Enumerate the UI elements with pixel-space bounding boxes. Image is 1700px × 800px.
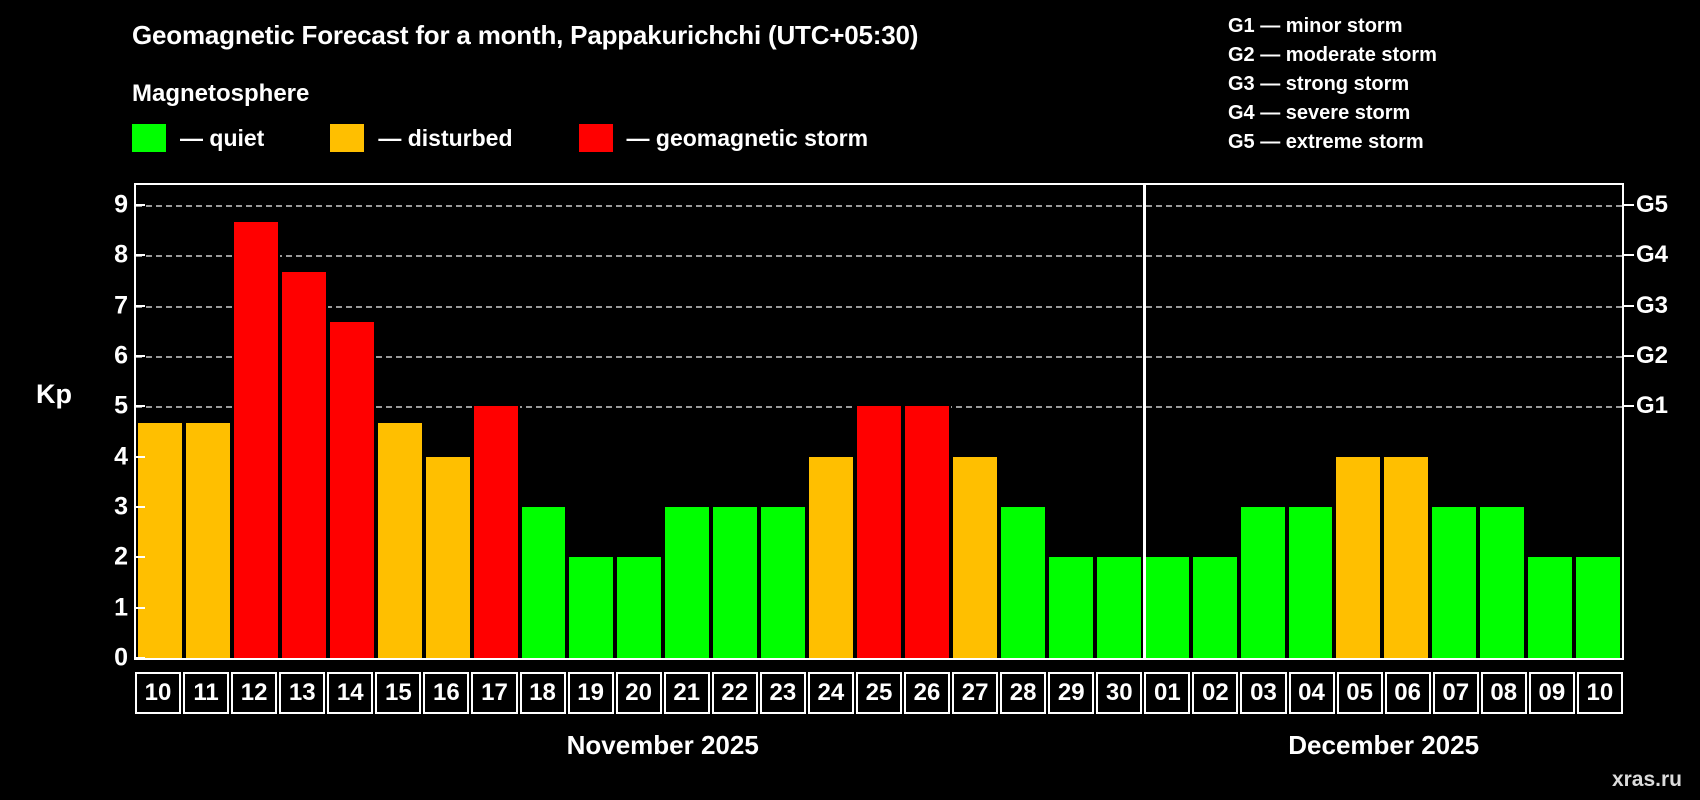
legend-item-quiet: — quiet <box>132 124 264 152</box>
bar-21-quiet <box>663 507 711 658</box>
magnetosphere-legend: — quiet— disturbed— geomagnetic storm <box>132 124 934 152</box>
bar-cell <box>1526 185 1574 658</box>
bar-05-disturbed <box>1334 457 1382 658</box>
bar-10-quiet <box>1574 557 1622 658</box>
gscale-row-5: G5 — extreme storm <box>1228 128 1437 157</box>
day-label-text: 17 <box>481 681 508 705</box>
bar-cell <box>424 185 472 658</box>
day-label-text: 14 <box>337 681 364 705</box>
day-label-text: 04 <box>1298 681 1325 705</box>
ytick-mark-4 <box>134 456 145 458</box>
bar-12-storm <box>232 222 280 658</box>
day-label-text: 08 <box>1490 681 1517 705</box>
bar-cell <box>280 185 328 658</box>
day-label-text: 09 <box>1538 681 1565 705</box>
day-label-30: 30 <box>1096 672 1142 714</box>
legend-swatch-storm <box>579 124 613 152</box>
bar-cell <box>951 185 999 658</box>
ytick-mark-0 <box>134 657 145 659</box>
day-label-15: 15 <box>375 672 421 714</box>
bar-09-quiet <box>1526 557 1574 658</box>
legend-swatch-disturbed <box>330 124 364 152</box>
gscale-row-1: G1 — minor storm <box>1228 12 1437 41</box>
bar-30-quiet <box>1095 557 1143 658</box>
page-title: Geomagnetic Forecast for a month, Pappak… <box>132 20 918 51</box>
day-label-22: 22 <box>712 672 758 714</box>
legend-item-storm: — geomagnetic storm <box>579 124 869 152</box>
x-axis-day-labels: 1011121314151617181920212223242526272829… <box>134 672 1624 714</box>
day-label-26: 26 <box>904 672 950 714</box>
chart-plot-area <box>134 183 1624 660</box>
legend-label-storm: — geomagnetic storm <box>627 125 869 152</box>
bar-02-quiet <box>1191 557 1239 658</box>
bar-13-storm <box>280 272 328 658</box>
bar-14-storm <box>328 322 376 658</box>
bar-20-quiet <box>615 557 663 658</box>
gtick-mark-G4 <box>1624 254 1634 256</box>
ytick-mark-5 <box>134 405 145 407</box>
bar-cell <box>663 185 711 658</box>
bar-25-storm <box>855 406 903 658</box>
day-label-27: 27 <box>952 672 998 714</box>
month-label-december: December 2025 <box>1288 730 1479 761</box>
bar-cell <box>711 185 759 658</box>
gscale-row-3: G3 — strong storm <box>1228 70 1437 99</box>
day-label-text: 06 <box>1394 681 1421 705</box>
bar-cell <box>1191 185 1239 658</box>
day-label-text: 05 <box>1346 681 1373 705</box>
gscale-row-2: G2 — moderate storm <box>1228 41 1437 70</box>
day-label-13: 13 <box>279 672 325 714</box>
bar-cell <box>1239 185 1287 658</box>
bar-cell <box>1047 185 1095 658</box>
bar-cell <box>1287 185 1335 658</box>
bar-cell <box>1574 185 1622 658</box>
bar-16-disturbed <box>424 457 472 658</box>
bar-cell <box>855 185 903 658</box>
day-label-11: 11 <box>183 672 229 714</box>
day-label-25: 25 <box>856 672 902 714</box>
day-label-03: 03 <box>1240 672 1286 714</box>
day-label-29: 29 <box>1048 672 1094 714</box>
ytick-label-9: 9 <box>114 191 128 220</box>
gtick-label-G2: G2 <box>1636 342 1668 370</box>
bar-cell <box>999 185 1047 658</box>
legend-title: Magnetosphere <box>132 80 309 108</box>
gtick-label-G4: G4 <box>1636 241 1668 269</box>
bar-11-disturbed <box>184 423 232 658</box>
day-label-text: 10 <box>1587 681 1614 705</box>
day-label-text: 28 <box>1010 681 1037 705</box>
ytick-label-7: 7 <box>114 291 128 320</box>
bar-cell <box>759 185 807 658</box>
day-label-08: 08 <box>1481 672 1527 714</box>
day-label-text: 02 <box>1202 681 1229 705</box>
gtick-label-G3: G3 <box>1636 292 1668 320</box>
y-axis-left: 0123456789 <box>78 183 128 660</box>
y-axis-right-gscale: G1G2G3G4G5 <box>1636 183 1696 660</box>
day-label-12: 12 <box>231 672 277 714</box>
day-label-text: 10 <box>145 681 172 705</box>
bar-15-disturbed <box>376 423 424 658</box>
day-label-14: 14 <box>327 672 373 714</box>
bar-cell <box>615 185 663 658</box>
day-label-text: 15 <box>385 681 412 705</box>
x-axis-month-labels: November 2025December 2025 <box>134 730 1624 770</box>
bar-cell <box>376 185 424 658</box>
day-label-text: 24 <box>818 681 845 705</box>
ytick-label-6: 6 <box>114 342 128 371</box>
ytick-label-2: 2 <box>114 543 128 572</box>
legend-label-disturbed: — disturbed <box>378 125 512 152</box>
day-label-text: 29 <box>1058 681 1085 705</box>
bar-17-storm <box>472 406 520 658</box>
ytick-mark-9 <box>134 204 145 206</box>
day-label-text: 21 <box>673 681 700 705</box>
ytick-label-8: 8 <box>114 241 128 270</box>
bar-cell <box>1478 185 1526 658</box>
bar-cell <box>1334 185 1382 658</box>
day-label-text: 25 <box>866 681 893 705</box>
gscale-row-4: G4 — severe storm <box>1228 99 1437 128</box>
bar-29-quiet <box>1047 557 1095 658</box>
day-label-06: 06 <box>1385 672 1431 714</box>
ytick-mark-3 <box>134 506 145 508</box>
day-label-01: 01 <box>1144 672 1190 714</box>
day-label-text: 22 <box>721 681 748 705</box>
day-label-text: 20 <box>625 681 652 705</box>
day-label-text: 18 <box>529 681 556 705</box>
day-label-07: 07 <box>1433 672 1479 714</box>
bar-cell <box>328 185 376 658</box>
ytick-label-5: 5 <box>114 392 128 421</box>
day-label-text: 30 <box>1106 681 1133 705</box>
bar-28-quiet <box>999 507 1047 658</box>
day-label-text: 16 <box>433 681 460 705</box>
ytick-mark-7 <box>134 305 145 307</box>
bar-cell <box>903 185 951 658</box>
bar-cell <box>232 185 280 658</box>
bar-cell <box>567 185 615 658</box>
ytick-mark-1 <box>134 607 145 609</box>
day-label-10: 10 <box>135 672 181 714</box>
day-label-19: 19 <box>568 672 614 714</box>
bar-23-quiet <box>759 507 807 658</box>
day-label-05: 05 <box>1337 672 1383 714</box>
month-label-november: November 2025 <box>567 730 759 761</box>
day-label-text: 23 <box>769 681 796 705</box>
ytick-label-4: 4 <box>114 442 128 471</box>
day-label-02: 02 <box>1192 672 1238 714</box>
day-label-28: 28 <box>1000 672 1046 714</box>
ytick-label-3: 3 <box>114 493 128 522</box>
gtick-mark-G3 <box>1624 305 1634 307</box>
gtick-label-G1: G1 <box>1636 392 1668 420</box>
bar-03-quiet <box>1239 507 1287 658</box>
day-label-21: 21 <box>664 672 710 714</box>
ytick-mark-6 <box>134 355 145 357</box>
gtick-mark-G5 <box>1624 204 1634 206</box>
gscale-legend: G1 — minor stormG2 — moderate stormG3 — … <box>1228 12 1437 157</box>
bar-cell <box>1095 185 1143 658</box>
bar-cell <box>1382 185 1430 658</box>
ytick-mark-2 <box>134 556 145 558</box>
day-label-04: 04 <box>1289 672 1335 714</box>
gtick-label-G5: G5 <box>1636 191 1668 219</box>
ytick-label-0: 0 <box>114 644 128 673</box>
day-label-text: 27 <box>962 681 989 705</box>
bar-08-quiet <box>1478 507 1526 658</box>
bar-cell <box>472 185 520 658</box>
bar-24-disturbed <box>807 457 855 658</box>
day-label-text: 11 <box>193 681 218 705</box>
bar-cell <box>807 185 855 658</box>
day-label-text: 03 <box>1250 681 1277 705</box>
bar-10-disturbed <box>136 423 184 658</box>
bar-19-quiet <box>567 557 615 658</box>
day-label-text: 13 <box>289 681 316 705</box>
day-label-text: 26 <box>914 681 941 705</box>
bar-22-quiet <box>711 507 759 658</box>
y-axis-title: Kp <box>36 379 72 410</box>
bar-cell <box>520 185 568 658</box>
watermark: xras.ru <box>1612 768 1682 792</box>
bar-cell <box>1143 185 1191 658</box>
day-label-text: 12 <box>241 681 268 705</box>
legend-item-disturbed: — disturbed <box>330 124 512 152</box>
ytick-label-1: 1 <box>114 593 128 622</box>
day-label-24: 24 <box>808 672 854 714</box>
legend-swatch-quiet <box>132 124 166 152</box>
day-label-10: 10 <box>1577 672 1623 714</box>
bar-06-disturbed <box>1382 457 1430 658</box>
day-label-text: 07 <box>1442 681 1469 705</box>
day-label-17: 17 <box>471 672 517 714</box>
day-label-23: 23 <box>760 672 806 714</box>
gtick-mark-G1 <box>1624 405 1634 407</box>
bar-cell <box>1430 185 1478 658</box>
bar-07-quiet <box>1430 507 1478 658</box>
day-label-16: 16 <box>423 672 469 714</box>
bar-18-quiet <box>520 507 568 658</box>
gtick-mark-G2 <box>1624 355 1634 357</box>
day-label-09: 09 <box>1529 672 1575 714</box>
month-divider-line <box>1143 185 1146 658</box>
bar-26-storm <box>903 406 951 658</box>
day-label-text: 19 <box>577 681 604 705</box>
day-label-18: 18 <box>520 672 566 714</box>
day-label-20: 20 <box>616 672 662 714</box>
ytick-mark-8 <box>134 254 145 256</box>
bar-01-quiet <box>1143 557 1191 658</box>
bar-cell <box>184 185 232 658</box>
bar-04-quiet <box>1287 507 1335 658</box>
day-label-text: 01 <box>1154 681 1181 705</box>
legend-label-quiet: — quiet <box>180 125 264 152</box>
bar-27-disturbed <box>951 457 999 658</box>
chart-bars <box>136 185 1622 658</box>
